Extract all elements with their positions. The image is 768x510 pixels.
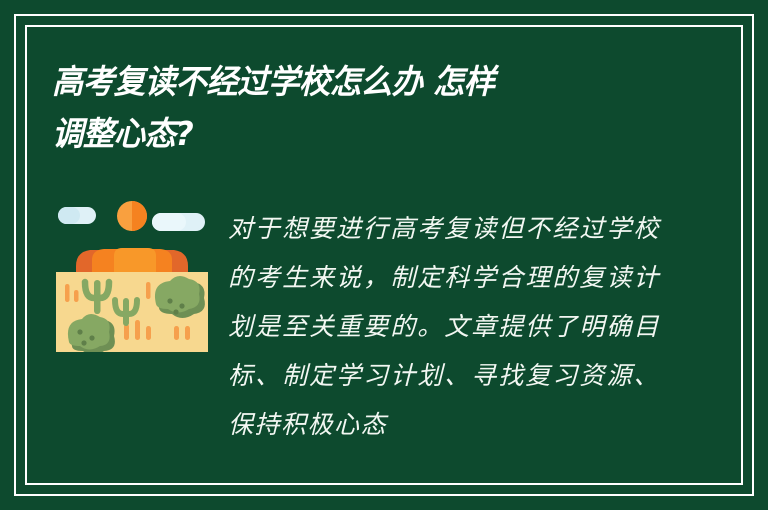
- poster-card: 高考复读不经过学校怎么办 怎样 调整心态?: [0, 0, 768, 510]
- body-paragraph: 对于想要进行高考复读但不经过学校的考生来说，制定科学合理的复读计划是至关重要的。…: [228, 204, 660, 449]
- page-title: 高考复读不经过学校怎么办 怎样 调整心态?: [52, 56, 660, 160]
- desert-mesa-illustration: [56, 200, 208, 352]
